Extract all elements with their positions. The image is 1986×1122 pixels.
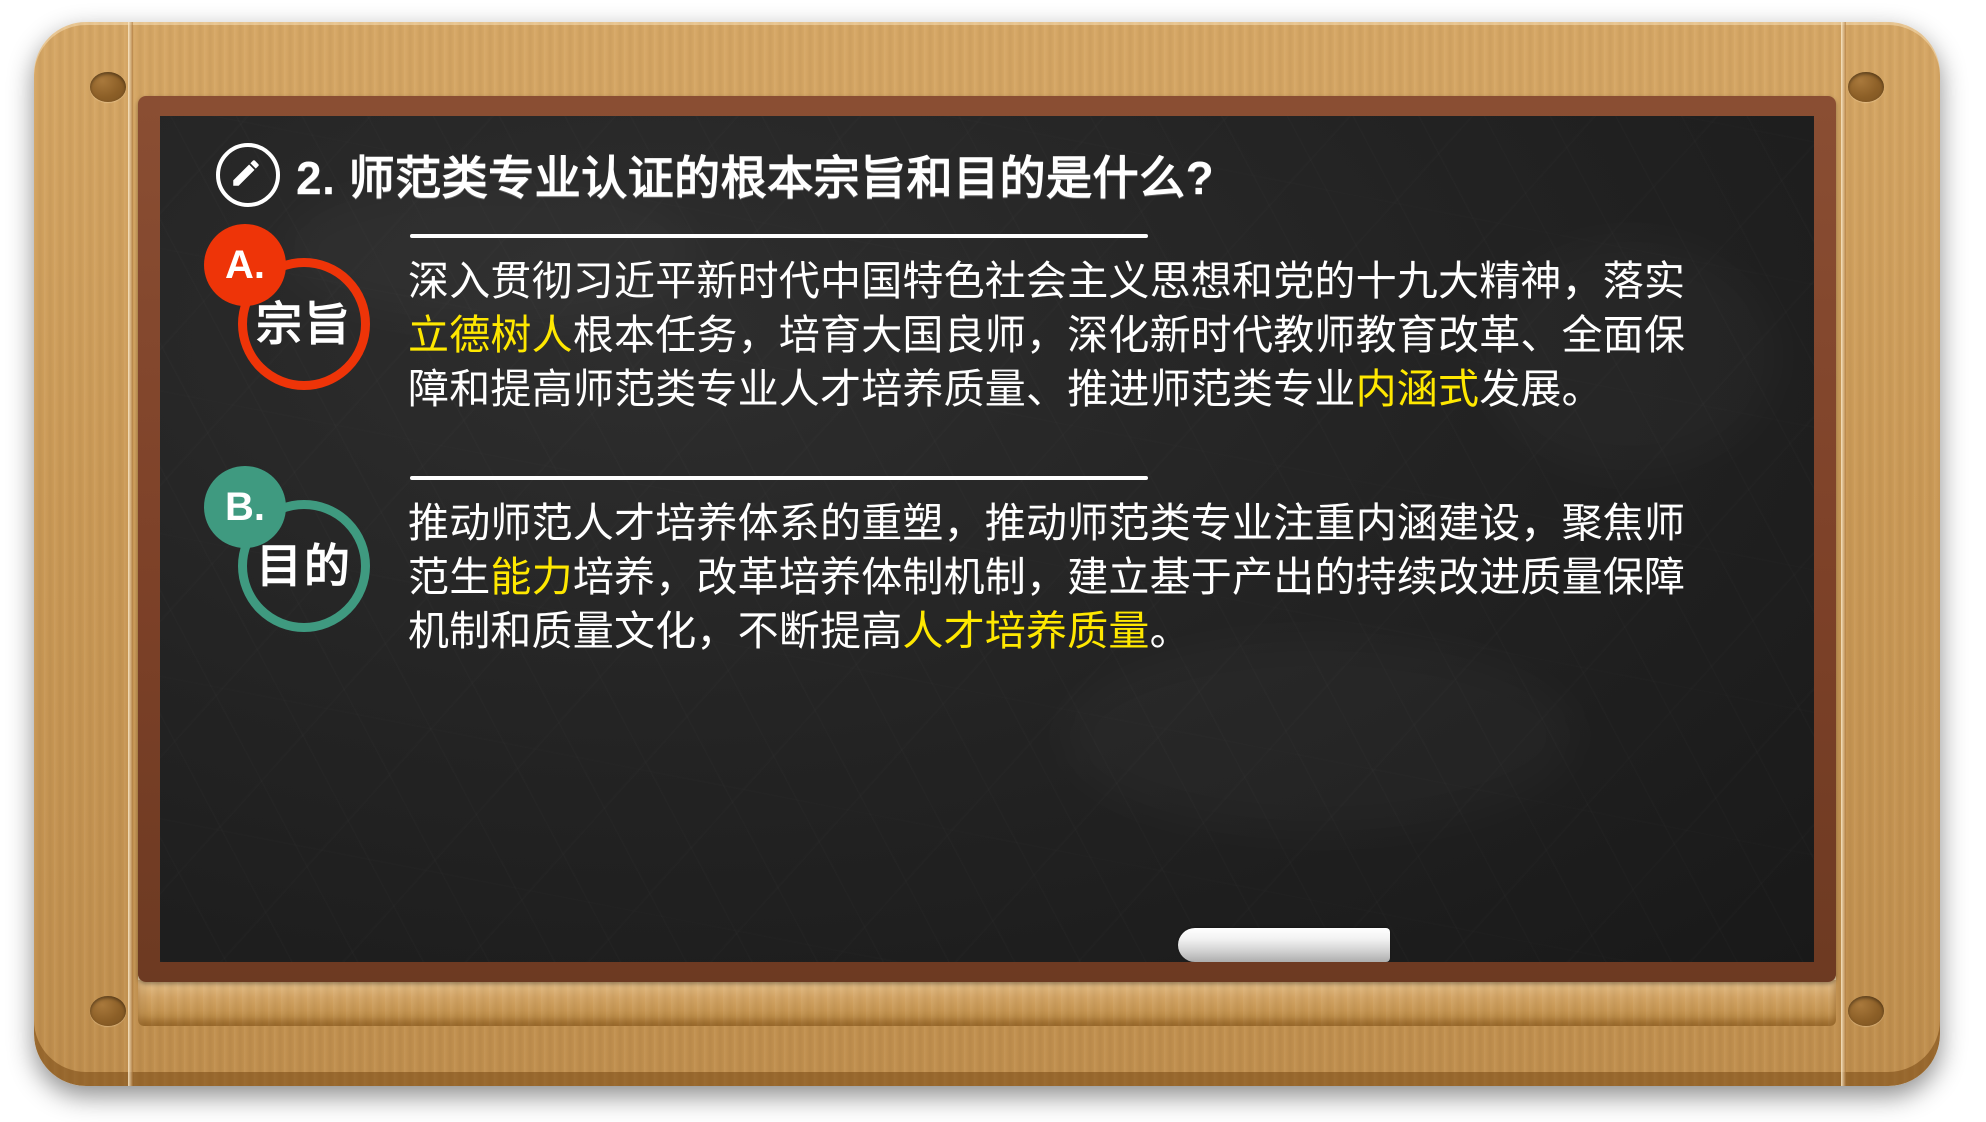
section-b-body: 推动师范人才培养体系的重塑，推动师范类专业注重内涵建设，聚焦师范生能力培养，改革… — [404, 466, 1774, 658]
page-header: 2. 师范类专业认证的根本宗旨和目的是什么? — [216, 142, 1214, 208]
section-b-letter: B. — [225, 485, 265, 530]
chalkboard-surface: 2. 师范类专业认证的根本宗旨和目的是什么? 宗旨 A. 深入贯彻习近平新时代中… — [160, 116, 1814, 962]
section-a: 宗旨 A. 深入贯彻习近平新时代中国特色社会主义思想和党的十九大精神，落实立德树… — [204, 224, 1774, 416]
highlighted-text: 内涵式 — [1356, 366, 1480, 412]
section-b-letter-badge: B. — [204, 466, 286, 548]
page-title: 2. 师范类专业认证的根本宗旨和目的是什么? — [296, 142, 1214, 208]
section-b-paragraph: 推动师范人才培养体系的重塑，推动师范类专业注重内涵建设，聚焦师范生能力培养，改革… — [408, 496, 1718, 658]
body-text: 。 — [1150, 608, 1191, 654]
highlighted-text: 能力 — [490, 554, 572, 600]
pencil-circle-icon — [216, 143, 280, 207]
section-a-letter: A. — [225, 243, 265, 288]
body-text: 发展。 — [1479, 366, 1603, 412]
screw-top-left-icon — [90, 72, 126, 102]
frame-rail-seam-right — [1841, 22, 1846, 1086]
screw-bottom-left-icon — [90, 996, 126, 1026]
section-a-badge-group: 宗旨 A. — [204, 224, 404, 416]
screw-bottom-right-icon — [1848, 996, 1884, 1026]
section-b-ring-label: 目的 — [256, 543, 352, 589]
chalkboard-bezel: 2. 师范类专业认证的根本宗旨和目的是什么? 宗旨 A. 深入贯彻习近平新时代中… — [138, 96, 1836, 982]
highlighted-text: 立德树人 — [408, 312, 573, 358]
section-a-divider — [410, 234, 1148, 238]
section-a-ring-label: 宗旨 — [256, 301, 352, 347]
section-a-letter-badge: A. — [204, 224, 286, 306]
section-a-paragraph: 深入贯彻习近平新时代中国特色社会主义思想和党的十九大精神，落实立德树人根本任务，… — [408, 254, 1718, 416]
body-text: 深入贯彻习近平新时代中国特色社会主义思想和党的十九大精神，落实 — [408, 258, 1685, 304]
chalk-smudge — [1060, 636, 1580, 836]
chalkboard-frame: 2. 师范类专业认证的根本宗旨和目的是什么? 宗旨 A. 深入贯彻习近平新时代中… — [34, 22, 1940, 1086]
frame-rail-seam-left — [128, 22, 133, 1086]
highlighted-text: 人才培养质量 — [902, 608, 1149, 654]
screw-top-right-icon — [1848, 72, 1884, 102]
section-b-divider — [410, 476, 1148, 480]
chalk-tray — [138, 976, 1836, 1026]
section-b-badge-group: 目的 B. — [204, 466, 404, 658]
section-b: 目的 B. 推动师范人才培养体系的重塑，推动师范类专业注重内涵建设，聚焦师范生能… — [204, 466, 1774, 658]
chalk-stick[interactable] — [1178, 928, 1390, 962]
section-a-body: 深入贯彻习近平新时代中国特色社会主义思想和党的十九大精神，落实立德树人根本任务，… — [404, 224, 1774, 416]
